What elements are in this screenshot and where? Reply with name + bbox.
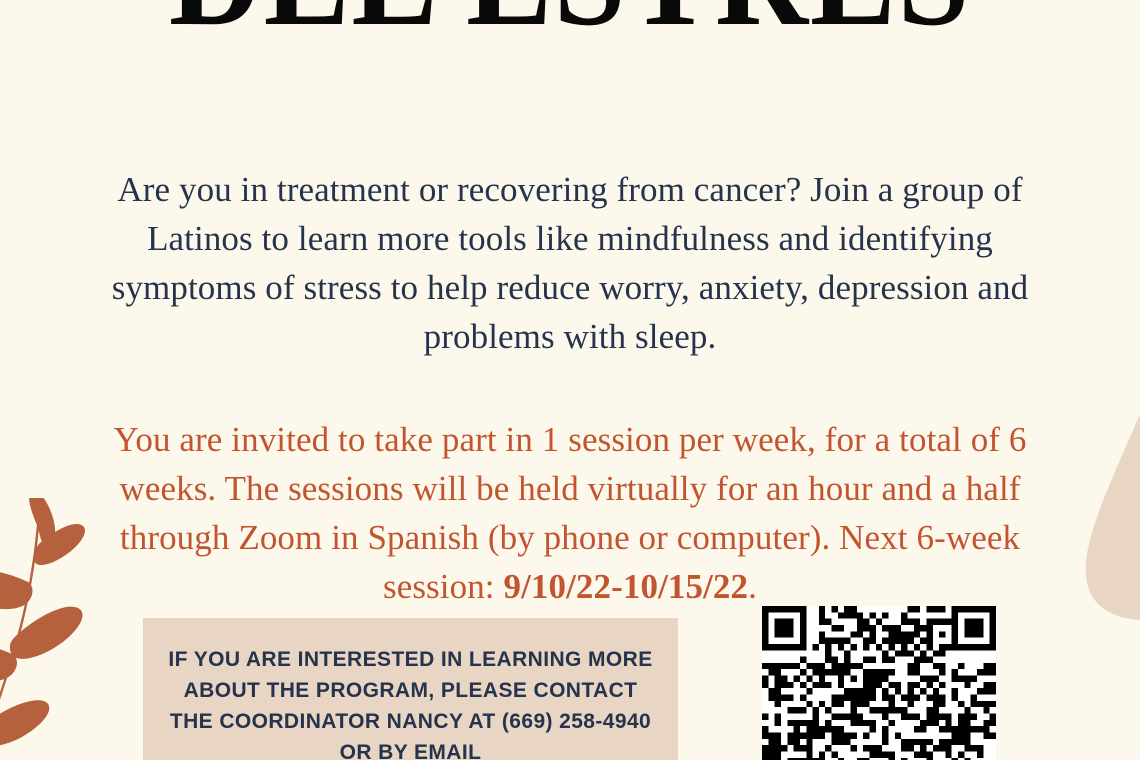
contact-line-3: THE COORDINATOR NANCY AT (669) 258-4940 xyxy=(155,706,666,737)
contact-line-2: ABOUT THE PROGRAM, PLEASE CONTACT xyxy=(155,675,666,706)
session-dates: 9/10/22-10/15/22 xyxy=(503,567,748,606)
poster-title-wrap: DEL ESTRÉS xyxy=(0,0,1140,48)
poster-canvas: DEL ESTRÉS Are you in treatment or recov… xyxy=(0,0,1140,760)
page-title: DEL ESTRÉS xyxy=(46,0,1095,48)
contact-line-1: IF YOU ARE INTERESTED IN LEARNING MORE xyxy=(155,644,666,675)
contact-info-box: IF YOU ARE INTERESTED IN LEARNING MORE A… xyxy=(143,618,678,760)
intro-paragraph: Are you in treatment or recovering from … xyxy=(0,165,1140,361)
qr-code[interactable] xyxy=(762,606,996,760)
qr-code-image xyxy=(762,606,996,760)
contact-line-4: OR BY EMAIL xyxy=(155,737,666,760)
details-paragraph: You are invited to take part in 1 sessio… xyxy=(0,415,1140,611)
details-text-after: . xyxy=(748,567,757,606)
